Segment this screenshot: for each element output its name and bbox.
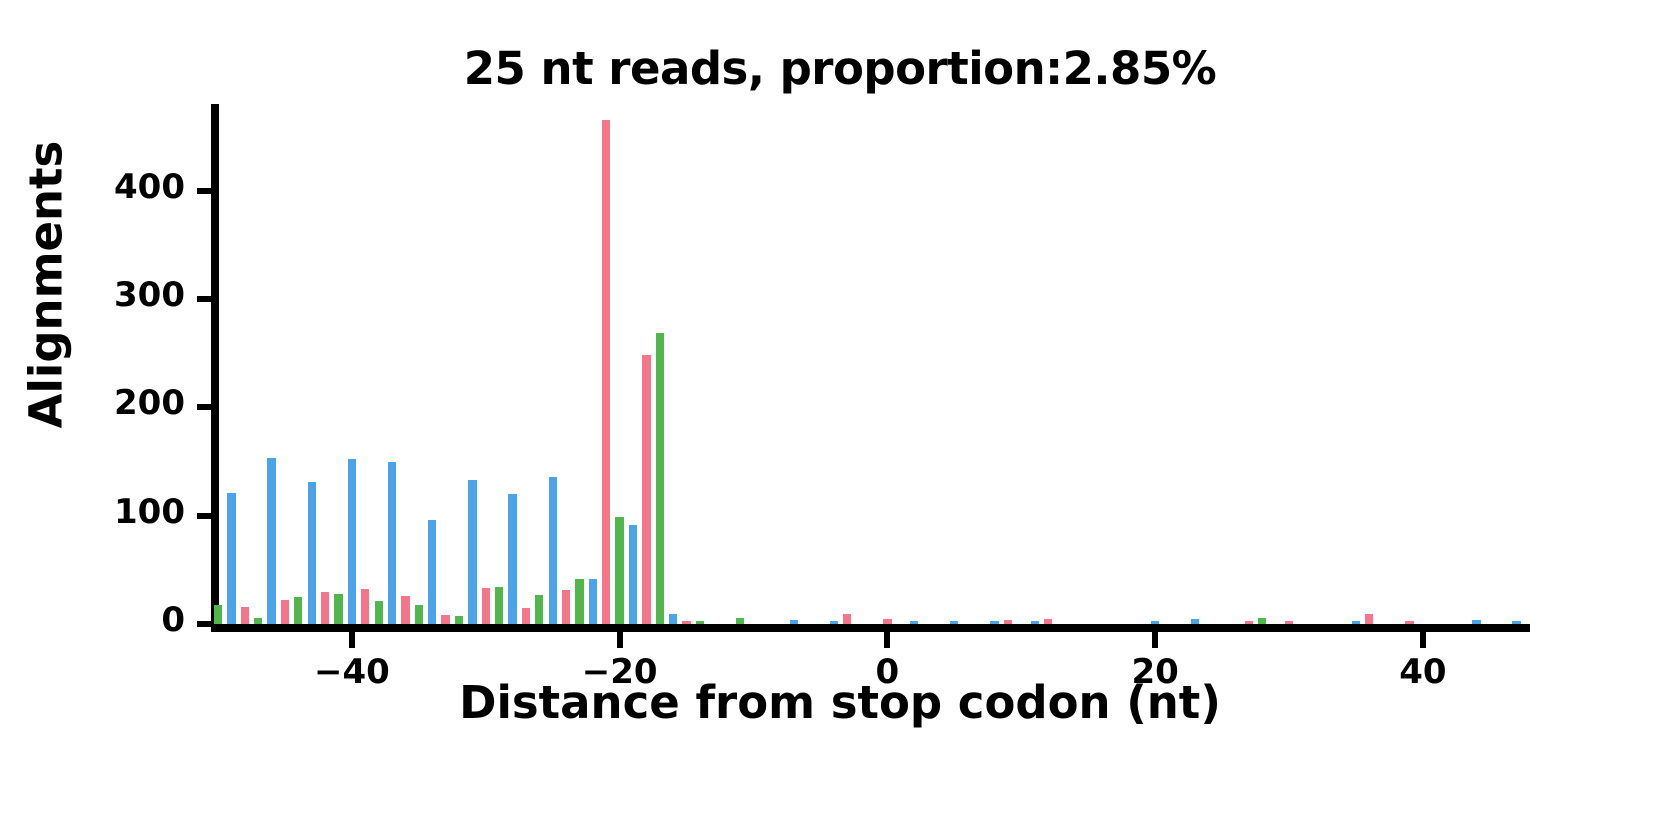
y-tick-200 xyxy=(197,404,211,410)
bar xyxy=(642,355,650,624)
figure-canvas: 25 nt reads, proportion:2.85% Alignments… xyxy=(0,0,1680,840)
bar xyxy=(656,333,664,624)
y-tick-label-300: 300 xyxy=(65,275,185,315)
bar xyxy=(468,480,476,624)
bar xyxy=(388,462,396,625)
y-tick-label-400: 400 xyxy=(65,167,185,207)
y-tick-100 xyxy=(197,513,211,519)
bar-series-layer xyxy=(218,104,1530,624)
bar xyxy=(1151,621,1159,624)
bar xyxy=(482,588,490,624)
bar xyxy=(1258,618,1266,625)
bar xyxy=(883,619,891,624)
x-tick-label-0: 0 xyxy=(817,652,957,692)
y-tick-label-0: 0 xyxy=(65,600,185,640)
x-tick-label-40: 40 xyxy=(1353,652,1493,692)
bar xyxy=(1245,621,1253,624)
x-tick--40 xyxy=(349,632,355,648)
bar xyxy=(589,579,597,625)
chart-title: 25 nt reads, proportion:2.85% xyxy=(0,42,1680,95)
bar xyxy=(308,482,316,624)
bar xyxy=(790,620,798,624)
bar xyxy=(1044,619,1052,624)
bar xyxy=(1004,620,1012,624)
bar xyxy=(1285,621,1293,624)
bar xyxy=(575,579,583,625)
bar xyxy=(736,618,744,625)
bar xyxy=(602,120,610,624)
bar xyxy=(522,608,530,624)
y-tick-label-200: 200 xyxy=(65,383,185,423)
bar xyxy=(629,525,637,624)
bar xyxy=(1191,619,1199,624)
bar xyxy=(508,494,516,624)
bar xyxy=(843,614,851,624)
bar xyxy=(1352,621,1360,624)
x-tick-label-20: 20 xyxy=(1085,652,1225,692)
bar xyxy=(267,458,275,624)
x-tick-20 xyxy=(1152,632,1158,648)
y-tick-0 xyxy=(197,621,211,627)
bar xyxy=(682,621,690,624)
bar xyxy=(428,520,436,624)
bar xyxy=(401,596,409,624)
y-tick-label-100: 100 xyxy=(65,492,185,532)
bar xyxy=(227,493,235,624)
bar xyxy=(1472,620,1480,624)
bar xyxy=(241,607,249,624)
y-tick-400 xyxy=(197,188,211,194)
bar xyxy=(334,594,342,624)
x-tick-label--20: −20 xyxy=(550,652,690,692)
bar xyxy=(990,621,998,624)
bar xyxy=(615,517,623,624)
x-tick-0 xyxy=(884,632,890,648)
bar xyxy=(294,597,302,624)
x-tick-40 xyxy=(1420,632,1426,648)
bar xyxy=(950,621,958,624)
bar xyxy=(415,605,423,625)
bar xyxy=(1365,614,1373,624)
bar xyxy=(535,595,543,624)
bar xyxy=(1512,621,1520,624)
bar xyxy=(1405,621,1413,624)
bar xyxy=(375,601,383,624)
bar xyxy=(549,477,557,624)
bar xyxy=(254,618,262,625)
x-tick-label--40: −40 xyxy=(282,652,422,692)
bar xyxy=(669,614,677,624)
bar xyxy=(321,592,329,625)
bar xyxy=(348,459,356,624)
bar xyxy=(455,616,463,624)
bar xyxy=(830,621,838,624)
x-tick--20 xyxy=(617,632,623,648)
bar xyxy=(562,590,570,624)
bar xyxy=(281,600,289,624)
bar xyxy=(441,615,449,624)
y-tick-300 xyxy=(197,296,211,302)
bar xyxy=(361,589,369,624)
bar xyxy=(495,587,503,624)
bar xyxy=(1031,621,1039,624)
bar xyxy=(214,605,222,625)
bar xyxy=(696,621,704,624)
bar xyxy=(910,621,918,624)
x-axis-spine xyxy=(211,624,1530,632)
